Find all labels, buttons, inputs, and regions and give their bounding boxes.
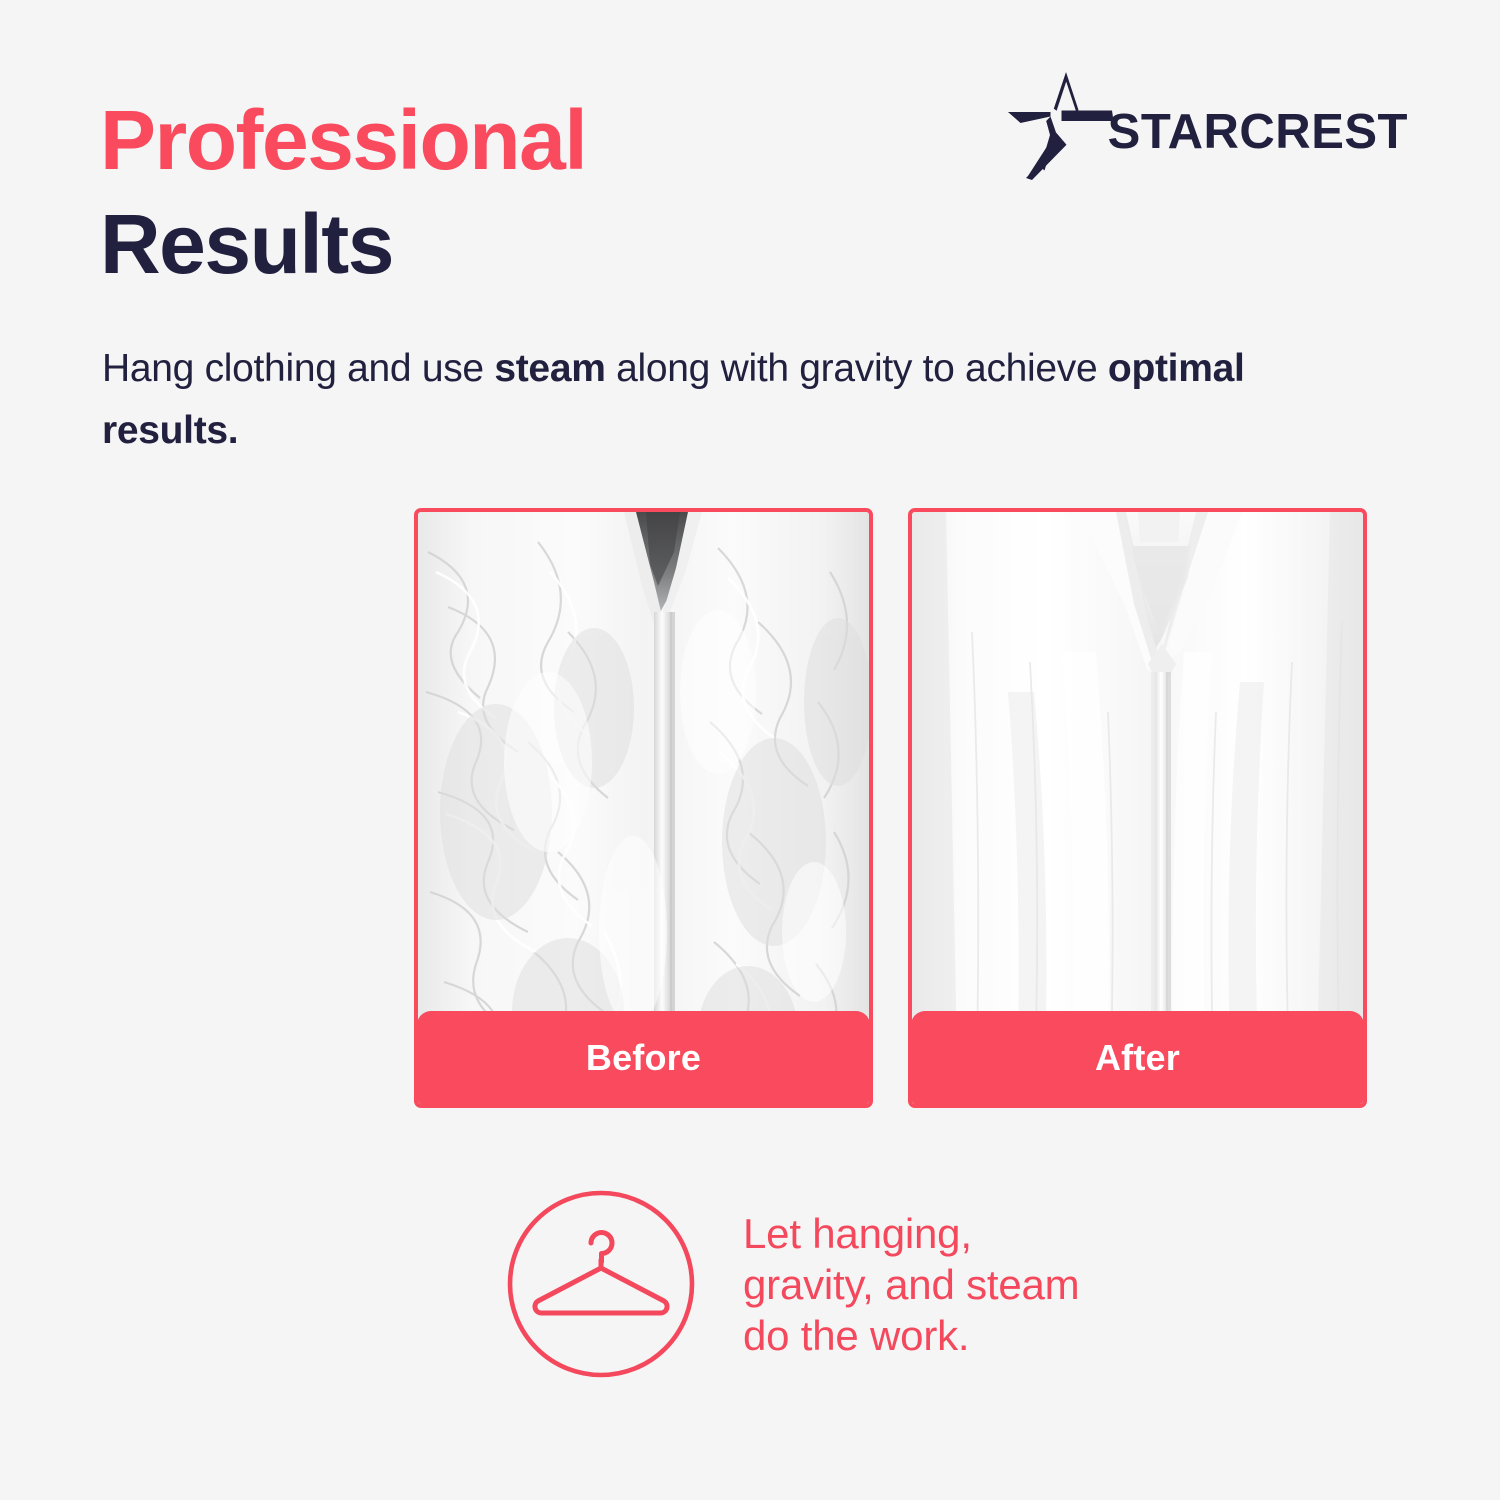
comparison-card-after[interactable]: After (908, 508, 1367, 1108)
brand-name: STARCREST (1108, 108, 1408, 157)
page-title: Professional Results (100, 88, 586, 296)
after-label: After (1095, 1037, 1180, 1079)
star-outline-icon (1004, 66, 1122, 182)
before-label: Before (586, 1037, 701, 1079)
footer-line-2: gravity, and steam (743, 1259, 1079, 1310)
page-subtitle: Hang clothing and use steam along with g… (102, 338, 1332, 462)
subtitle-emphasis-steam: steam (494, 347, 605, 390)
before-after-comparison: Before (414, 508, 1368, 1108)
footer-tip: Let hanging, gravity, and steam do the w… (505, 1188, 1079, 1380)
page-title-line-2: Results (100, 192, 586, 296)
infographic-page: Professional Results Hang clothing and u… (0, 0, 1500, 1500)
page-title-line-1: Professional (100, 88, 586, 192)
card-label-banner-before: Before (417, 1011, 870, 1105)
footer-tip-text: Let hanging, gravity, and steam do the w… (743, 1208, 1079, 1361)
subtitle-text-1: Hang clothing and use (102, 347, 494, 390)
footer-line-3: do the work. (743, 1310, 1079, 1361)
subtitle-text-2: along with gravity to achieve (606, 347, 1108, 390)
footer-line-1: Let hanging, (743, 1208, 1079, 1259)
brand-logo: STARCREST (1004, 66, 1408, 182)
card-label-banner-after: After (911, 1011, 1364, 1105)
clothes-hanger-in-circle-icon (505, 1188, 697, 1380)
comparison-card-before[interactable]: Before (414, 508, 873, 1108)
